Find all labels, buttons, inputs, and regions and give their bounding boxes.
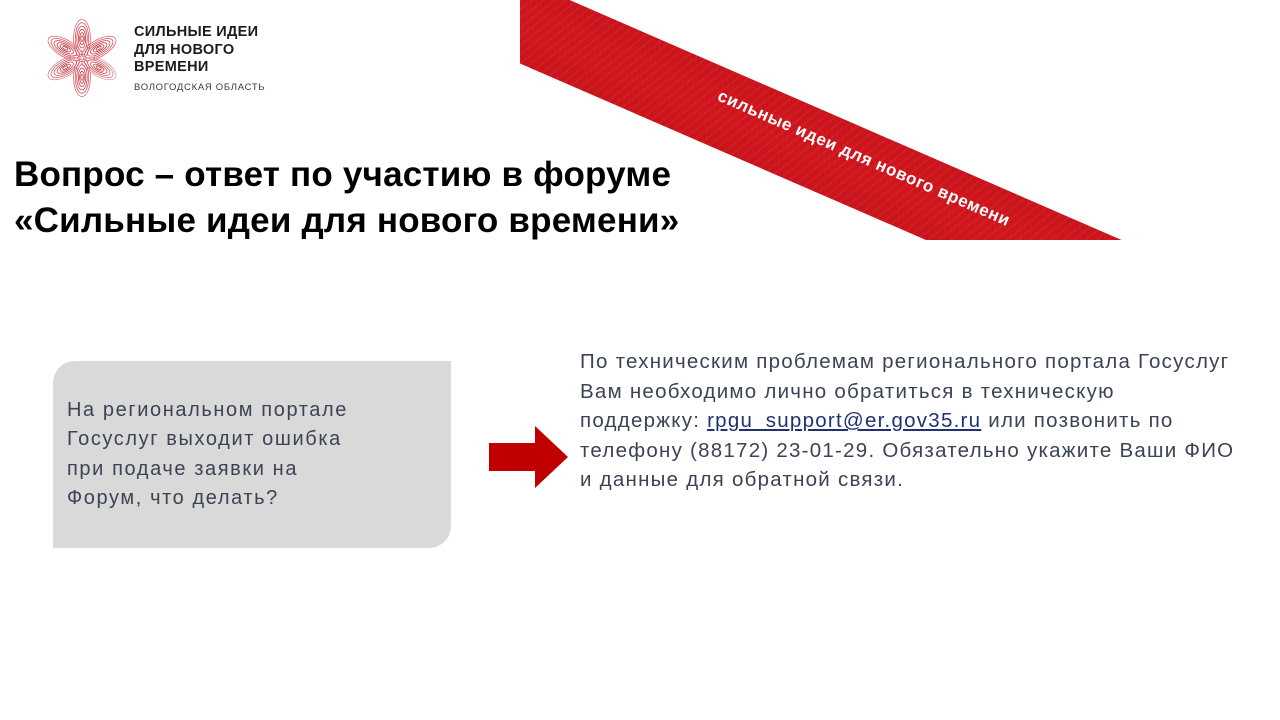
logo-text-block: СИЛЬНЫЕ ИДЕИ ДЛЯ НОВОГО ВРЕМЕНИ ВОЛОГОДС…	[134, 14, 265, 93]
support-email-link[interactable]: rpgu_support@er.gov35.ru	[707, 409, 981, 432]
slide-root: сильные идеи для нового времени ежегодны…	[0, 0, 1280, 720]
logo-lockup: СИЛЬНЫЕ ИДЕИ ДЛЯ НОВОГО ВРЕМЕНИ ВОЛОГОДС…	[40, 14, 265, 102]
answer-text-block: По техническим проблемам регионального п…	[580, 347, 1240, 495]
question-text: На региональном портале Госуслуг выходит…	[67, 396, 348, 513]
question-bubble: На региональном портале Госуслуг выходит…	[53, 361, 451, 548]
logo-subtitle: ВОЛОГОДСКАЯ ОБЛАСТЬ	[134, 82, 265, 93]
page-title: Вопрос – ответ по участию в форуме «Силь…	[14, 152, 914, 243]
right-arrow-icon	[489, 426, 568, 488]
six-petal-flower-logo-icon	[40, 14, 124, 102]
answer-paragraph: По техническим проблемам регионального п…	[580, 347, 1240, 495]
logo-title: СИЛЬНЫЕ ИДЕИ ДЛЯ НОВОГО ВРЕМЕНИ	[134, 24, 265, 77]
